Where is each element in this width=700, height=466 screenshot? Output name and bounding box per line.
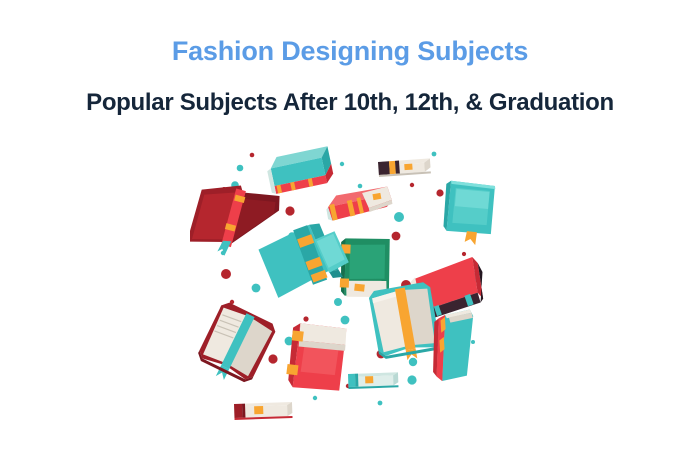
book-cream-open-teal-cover xyxy=(368,281,442,365)
falling-books-illustration xyxy=(190,140,510,440)
books-artwork xyxy=(190,140,510,440)
book-red-flat-middle xyxy=(324,186,393,221)
book-teal-notebook-right xyxy=(435,176,501,248)
book-small-flat-top-right xyxy=(378,158,431,177)
page-title: Fashion Designing Subjects xyxy=(0,34,700,68)
book-teal-closed-top xyxy=(265,146,335,195)
page-subtitle: Popular Subjects After 10th, 12th, & Gra… xyxy=(0,68,700,118)
book-teal-open-large xyxy=(256,216,353,299)
heading-block: Fashion Designing Subjects Popular Subje… xyxy=(0,34,700,118)
book-cream-open-darkred-cover xyxy=(192,300,277,391)
book-small-flat-red-bottom xyxy=(234,402,293,420)
book-red-closed-bottom xyxy=(279,316,354,398)
book-small-flat-teal-lower xyxy=(348,372,398,389)
poster-canvas: Fashion Designing Subjects Popular Subje… xyxy=(0,0,700,466)
